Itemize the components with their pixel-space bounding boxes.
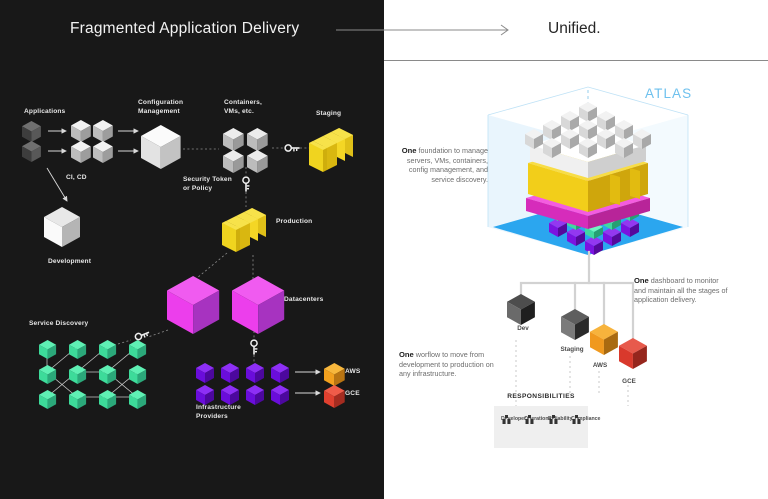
blurb-workflow: One worflow to move from development to …	[399, 350, 499, 379]
stage-node-gce	[619, 338, 647, 369]
blurb-workflow-lead: One	[399, 350, 414, 359]
stage-node-aws	[590, 324, 618, 355]
responsibility-reliability[interactable]: Reliability	[548, 415, 572, 422]
blurb-dashboard-lead: One	[634, 276, 649, 285]
person-icon	[571, 415, 582, 427]
person-icon	[524, 415, 535, 427]
person-icon	[548, 415, 559, 427]
blurb-foundation: One foundation to manage servers, VMs, c…	[398, 146, 488, 184]
stage-node-dev	[507, 294, 535, 325]
responsibility-operations[interactable]: Operations	[524, 415, 548, 422]
stage-label-gce: GCE	[615, 378, 643, 385]
blurb-dashboard: One dashboard to monitor and maintain al…	[634, 276, 730, 305]
person-icon	[501, 415, 512, 427]
blurb-foundation-text: foundation to manage servers, VMs, conta…	[407, 146, 488, 184]
stage-label-staging: Staging	[554, 346, 590, 353]
stage-node-staging	[561, 309, 589, 340]
stage-label-dev: Dev	[508, 325, 538, 332]
atlas-brand: ATLAS	[645, 86, 692, 101]
responsibility-compliance[interactable]: Compliance	[571, 415, 595, 422]
responsibilities-panel	[494, 406, 588, 448]
responsibilities-title: RESPONSIBILITIES	[494, 393, 588, 400]
atlas-diagram	[0, 0, 768, 499]
blurb-workflow-text: worflow to move from development to prod…	[399, 350, 494, 378]
stage-label-aws: AWS	[586, 362, 614, 369]
infographic-canvas: Fragmented Application Delivery Unified.	[0, 0, 768, 499]
blurb-dashboard-text: dashboard to monitor and maintain all th…	[634, 276, 728, 304]
blurb-foundation-lead: One	[402, 146, 417, 155]
responsibility-developer[interactable]: Developer	[501, 415, 525, 422]
